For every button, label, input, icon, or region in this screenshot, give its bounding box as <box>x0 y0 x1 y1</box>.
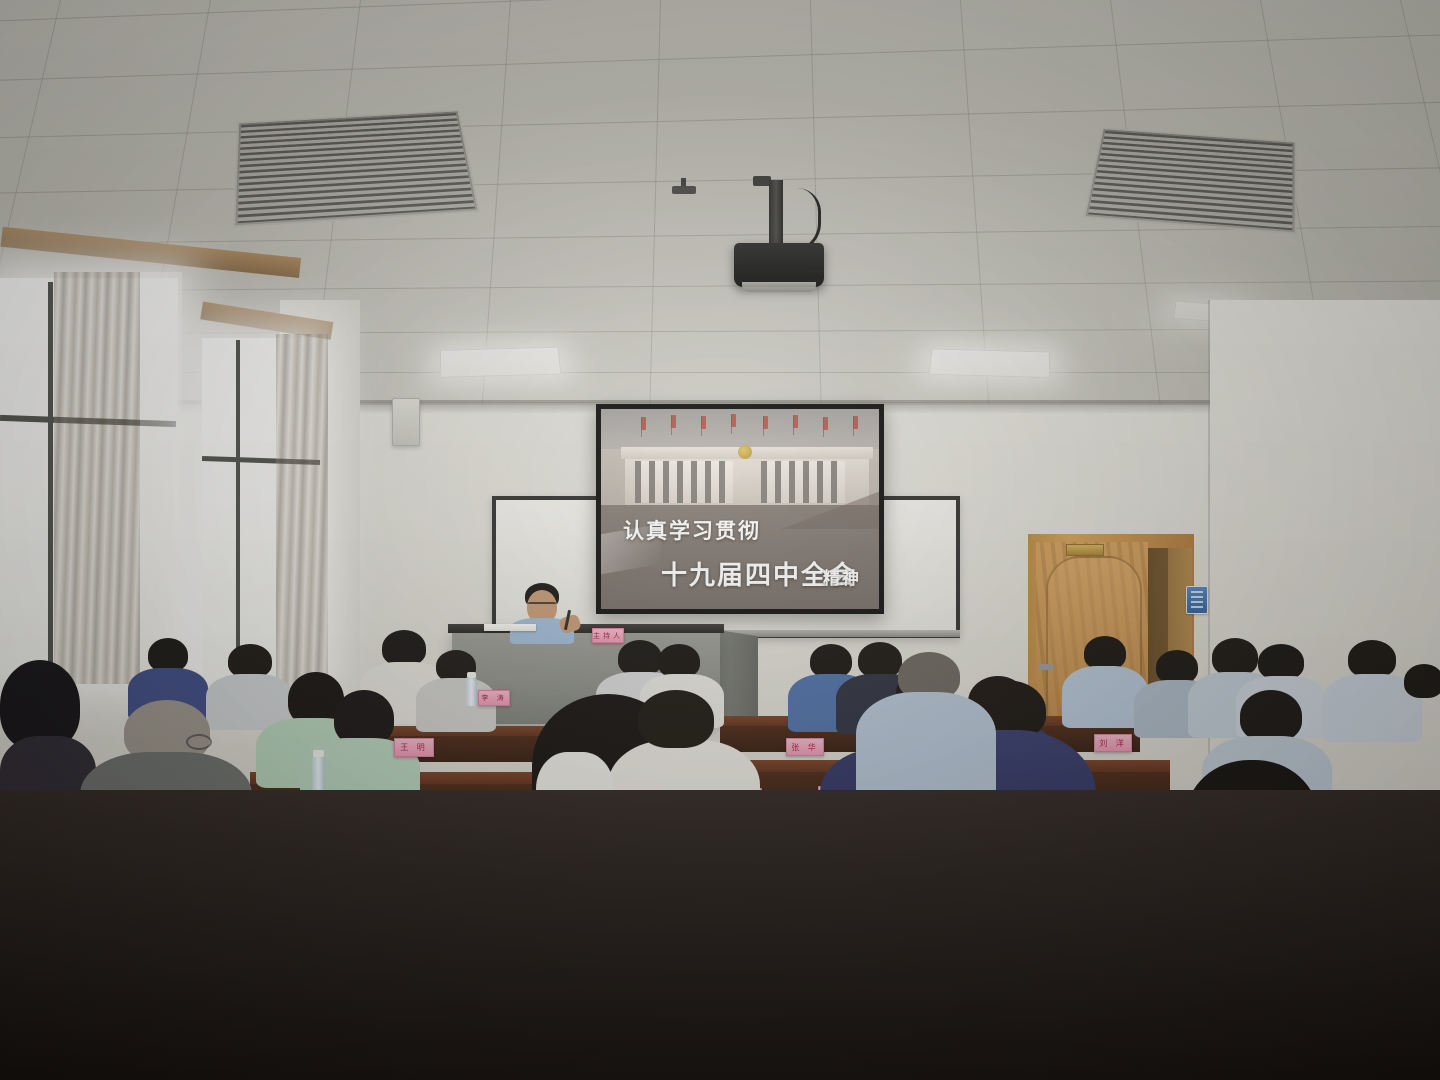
door-handle[interactable] <box>1038 664 1054 670</box>
attendee-back-8-hair <box>858 642 902 678</box>
attendee-back-6-hair <box>658 644 700 678</box>
nameplate-left-2: 王 明 <box>394 738 434 757</box>
nameplate-left-2-text: 王 明 <box>400 742 428 753</box>
nameplate-podium: 主持人 <box>592 628 624 643</box>
speaker-glasses-icon <box>528 602 556 609</box>
nameplate-mid-1-text: 张 华 <box>791 742 819 753</box>
podium-documents <box>484 624 536 631</box>
window-curtain-2 <box>276 334 328 690</box>
water-bottle-cap-left <box>313 750 324 757</box>
water-bottle-row3 <box>466 676 477 706</box>
attendee-back-5-hair <box>618 640 662 676</box>
attendee-back-1-hair <box>148 638 188 672</box>
water-bottle-cap-row3 <box>467 672 476 678</box>
attendee-back-7-hair <box>810 644 852 678</box>
door-nameplate-sign <box>1066 544 1104 556</box>
wall-speaker-left <box>392 398 420 446</box>
national-emblem-icon <box>738 445 752 459</box>
window-mullion-2-v <box>236 340 240 684</box>
emergency-exit-sign <box>1186 586 1208 614</box>
wall-corner-edge <box>1208 300 1210 820</box>
attendee-back-10-hair <box>1156 650 1198 684</box>
attendee-row3-5-hair <box>1240 690 1302 742</box>
attendee-behind-white-hair <box>638 690 714 748</box>
slide-headline-line3: 精神 <box>823 564 861 589</box>
projection-screen: 认真学习贯彻 十九届四中全会 精神 <box>596 404 884 614</box>
attendee-lightblue-body <box>856 692 996 792</box>
slide-content: 认真学习贯彻 十九届四中全会 精神 <box>601 409 879 609</box>
podium-side-panel <box>718 630 758 724</box>
attendee-back-14-hair <box>1404 664 1440 698</box>
window-curtain-1 <box>54 272 140 684</box>
slide-headline-line1: 认真学习贯彻 <box>623 515 761 545</box>
nameplate-left-1-text: 李 涛 <box>481 693 506 703</box>
ceiling-hook-plate <box>672 186 696 194</box>
window-mullion-1-v <box>48 282 53 678</box>
attendee-back-13-hair <box>1348 640 1396 678</box>
nameplate-mid-1: 张 华 <box>786 738 824 756</box>
nameplate-right-1: 刘 洋 <box>1094 734 1132 752</box>
attendee-back-3-hair <box>382 630 426 666</box>
water-bottle-left <box>312 756 325 792</box>
conference-room-photo: 认真学习贯彻 十九届四中全会 精神 主持人 <box>0 0 1440 1080</box>
nameplate-left-1: 李 涛 <box>478 690 510 706</box>
nameplate-right-1-text: 刘 洋 <box>1099 738 1127 749</box>
projector-lens <box>742 282 816 292</box>
floor <box>0 790 1440 1080</box>
projector-mount-arm <box>769 180 783 246</box>
attendee-row2-2-glasses-icon <box>186 734 212 750</box>
attendee-back-2-hair <box>228 644 272 678</box>
attendee-back-11-hair <box>1212 638 1258 676</box>
ceiling-projector <box>734 243 824 287</box>
attendee-back-9-hair <box>1084 636 1126 670</box>
attendee-back-12-hair <box>1258 644 1304 680</box>
nameplate-podium-text: 主持人 <box>593 631 623 641</box>
window-sheer-1 <box>140 272 182 686</box>
